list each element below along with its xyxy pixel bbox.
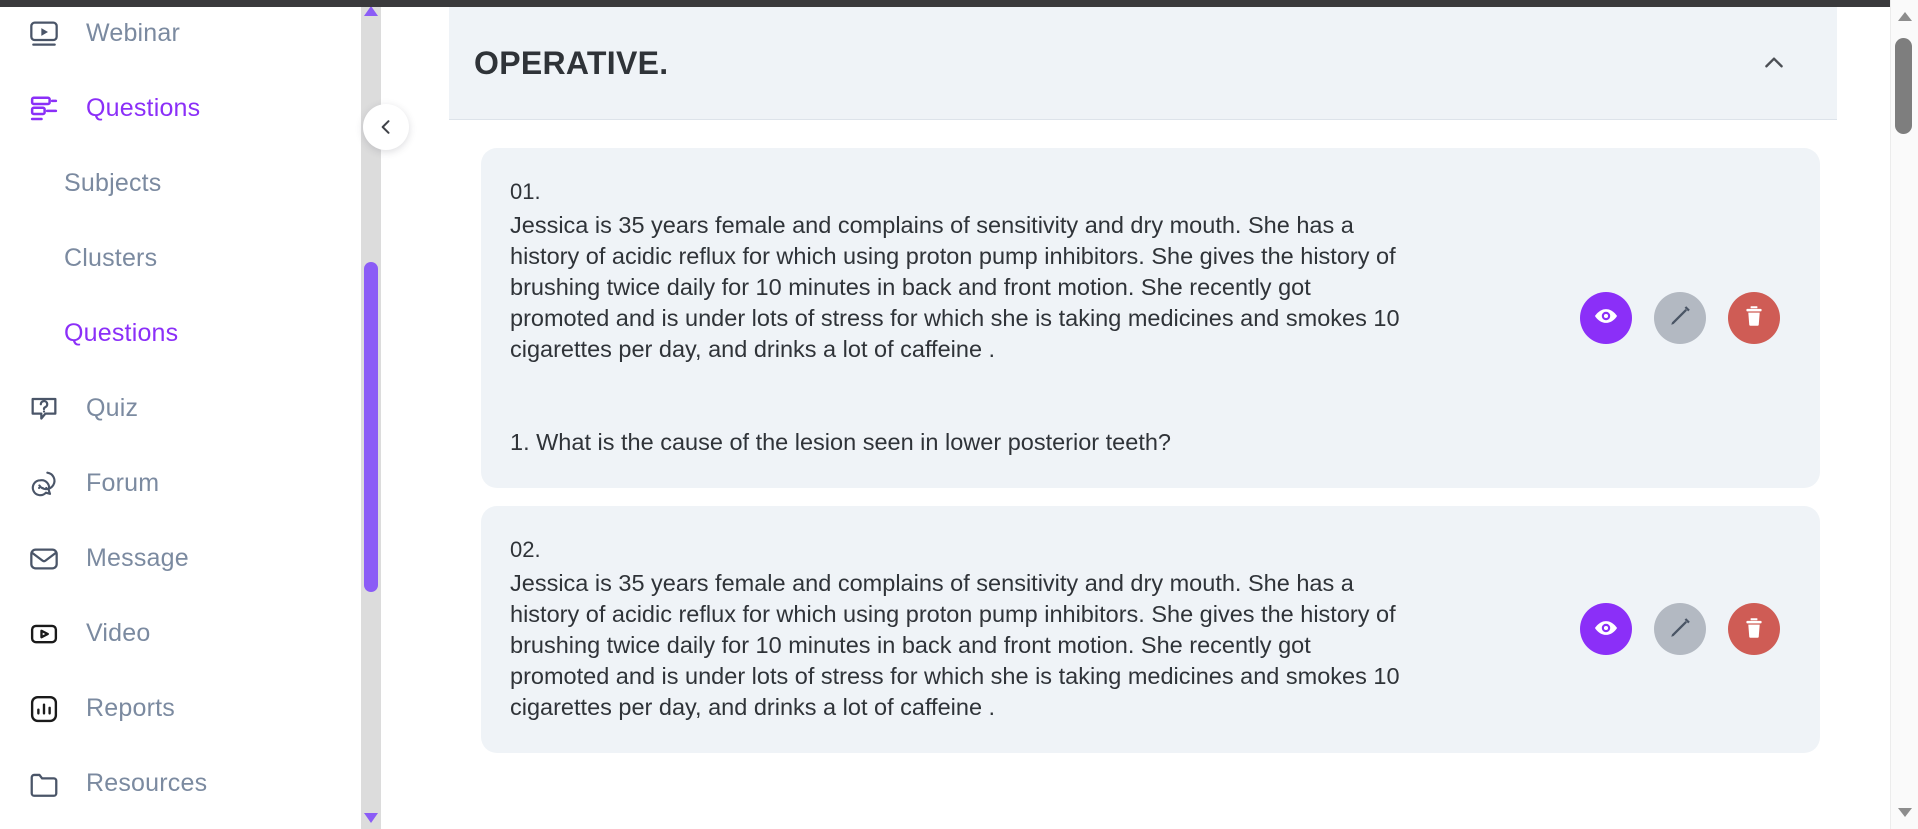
question-body: 01. Jessica is 35 years female and compl… [510, 176, 1410, 458]
question-actions [1580, 292, 1780, 344]
chat-bubbles-icon [24, 464, 64, 504]
pencil-icon [1668, 616, 1692, 643]
eye-icon [1593, 303, 1619, 332]
question-index: 01. [510, 176, 1410, 208]
main-content: OPERATIVE. 01. Jessica is 35 years femal… [449, 7, 1890, 829]
question-bubble-icon [24, 389, 64, 429]
question-prompt: 1. What is the cause of the lesion seen … [510, 427, 1410, 458]
sidebar-item-subjects[interactable]: Subjects [0, 146, 361, 221]
question-body: 02. Jessica is 35 years female and compl… [510, 534, 1410, 723]
chevron-up-icon[interactable] [1761, 50, 1787, 76]
video-player-icon [24, 14, 64, 54]
eye-icon [1593, 615, 1619, 644]
question-card[interactable]: 02. Jessica is 35 years female and compl… [481, 506, 1820, 753]
sidebar-item-forum[interactable]: Forum [0, 446, 361, 521]
sidebar-scrollbar-thumb[interactable] [364, 262, 378, 592]
sidebar-item-questions-sub[interactable]: Questions [0, 296, 361, 371]
sidebar-item-questions[interactable]: Questions [0, 71, 361, 146]
browser-scroll-down-arrow[interactable] [1898, 808, 1912, 817]
question-stem: Jessica is 35 years female and complains… [510, 568, 1410, 723]
question-index: 02. [510, 534, 1410, 566]
question-card[interactable]: 01. Jessica is 35 years female and compl… [481, 148, 1820, 488]
sidebar-item-label: Questions [64, 319, 178, 348]
question-card-list: 01. Jessica is 35 years female and compl… [449, 120, 1837, 753]
browser-top-chrome-bar [0, 0, 1918, 7]
sidebar: Webinar Questions Subjects [0, 0, 361, 829]
folder-icon [24, 764, 64, 804]
sidebar-scroll-down-arrow[interactable] [364, 813, 378, 823]
trash-icon [1742, 304, 1766, 331]
sidebar-item-label: Webinar [86, 19, 180, 48]
question-stem: Jessica is 35 years female and complains… [510, 210, 1410, 365]
delete-question-button[interactable] [1728, 603, 1780, 655]
sidebar-item-label: Questions [86, 94, 200, 123]
edit-question-button[interactable] [1654, 603, 1706, 655]
sidebar-item-webinar[interactable]: Webinar [0, 0, 361, 71]
chevron-left-icon [376, 117, 396, 137]
question-list-icon [24, 89, 64, 129]
sidebar-item-label: Reports [86, 694, 175, 723]
view-question-button[interactable] [1580, 292, 1632, 344]
sidebar-scroll-up-arrow[interactable] [364, 6, 378, 16]
browser-scrollbar-thumb[interactable] [1895, 38, 1912, 134]
sidebar-item-label: Subjects [64, 169, 162, 198]
delete-question-button[interactable] [1728, 292, 1780, 344]
question-actions [1580, 603, 1780, 655]
sidebar-item-label: Quiz [86, 394, 138, 423]
pencil-icon [1668, 304, 1692, 331]
sidebar-item-label: Forum [86, 469, 159, 498]
app-root: Webinar Questions Subjects [0, 0, 1918, 829]
sidebar-item-label: Clusters [64, 244, 157, 273]
view-question-button[interactable] [1580, 603, 1632, 655]
sidebar-item-reports[interactable]: Reports [0, 671, 361, 746]
sidebar-nav-list: Webinar Questions Subjects [0, 0, 361, 821]
video-player-icon [24, 614, 64, 654]
sidebar-item-message[interactable]: Message [0, 521, 361, 596]
sidebar-item-label: Resources [86, 769, 207, 798]
sidebar-item-clusters[interactable]: Clusters [0, 221, 361, 296]
sidebar-item-resources[interactable]: Resources [0, 746, 361, 821]
envelope-icon [24, 539, 64, 579]
bar-chart-icon [24, 689, 64, 729]
browser-scrollbar[interactable] [1890, 0, 1918, 829]
sidebar-item-label: Message [86, 544, 189, 573]
trash-icon [1742, 616, 1766, 643]
sidebar-item-quiz[interactable]: Quiz [0, 371, 361, 446]
section-accordion-header[interactable]: OPERATIVE. [449, 7, 1837, 120]
sidebar-item-label: Video [86, 619, 151, 648]
sidebar-collapse-toggle-button[interactable] [363, 104, 409, 150]
edit-question-button[interactable] [1654, 292, 1706, 344]
page-title: OPERATIVE. [474, 45, 668, 82]
browser-scroll-up-arrow[interactable] [1898, 12, 1912, 21]
sidebar-item-video[interactable]: Video [0, 596, 361, 671]
